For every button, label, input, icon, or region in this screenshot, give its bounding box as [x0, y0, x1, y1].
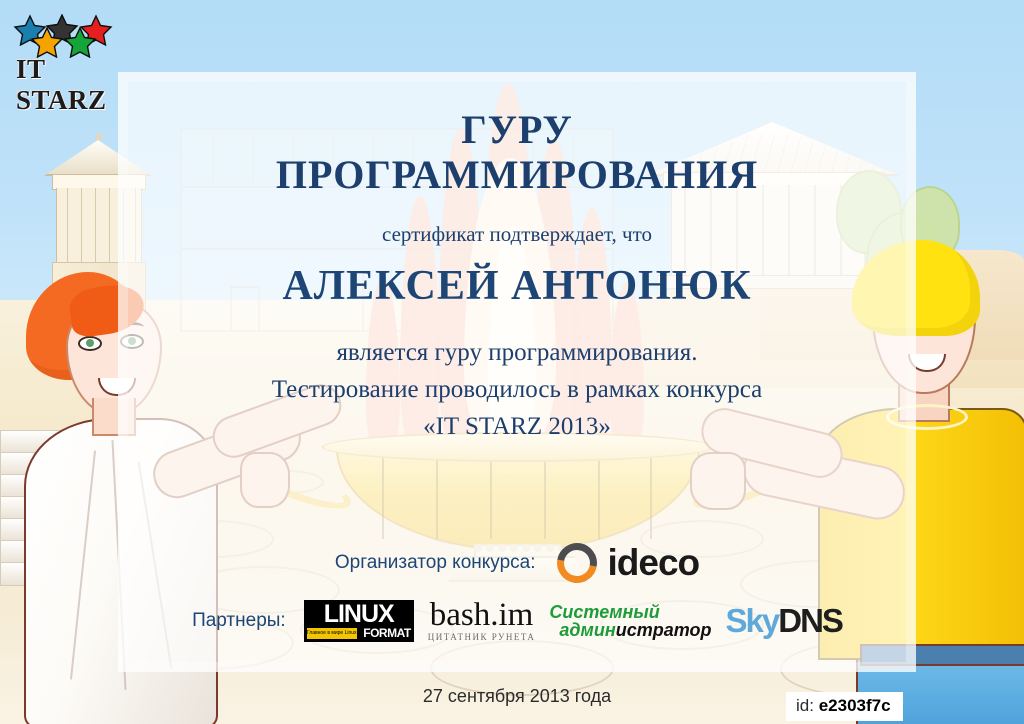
skydns-sky: Sky	[726, 602, 779, 639]
linux-format-word: LINUX	[308, 602, 410, 626]
certificate-content: ГУРУ ПРОГРАММИРОВАНИЯ сертификат подтвер…	[118, 72, 916, 672]
logo-stars	[12, 14, 120, 56]
skydns-dns: DNS	[778, 602, 842, 639]
logo-wordmark: IT STARZ	[16, 54, 120, 116]
title-line-1: ГУРУ	[118, 108, 916, 153]
it-starz-logo: IT STARZ	[12, 14, 120, 94]
certificate-title: ГУРУ ПРОГРАММИРОВАНИЯ	[118, 108, 916, 198]
partner-logo-bash-im: bash.im ЦИТАТНИК РУНЕТА	[428, 600, 536, 641]
certificate-id-badge: id: e2303f7c	[786, 692, 903, 721]
recipient-name: АЛЕКСЕЙ АНТОНЮК	[118, 262, 916, 310]
organizer-label: Организатор конкурса:	[335, 552, 536, 574]
partners-label: Партнеры:	[192, 610, 286, 632]
certificate-subtitle: сертификат подтверждает, что	[118, 222, 916, 247]
partner-logo-linux-format: LINUX Главное в мире Linux FORMAT	[304, 600, 414, 642]
certificate-canvas: IT STARZ ГУРУ ПРОГРАММИРОВАНИЯ сертифика…	[0, 0, 1024, 724]
sysadmin-line-2-green: админ	[559, 620, 615, 640]
body-line-2: Тестирование проводилось в рамках конкур…	[118, 371, 916, 408]
bash-im-word: bash.im	[430, 600, 534, 631]
certificate-body: является гуру программирования. Тестиров…	[118, 334, 916, 445]
partner-logo-sysadmin: Системный администратор	[549, 603, 711, 639]
bash-im-tagline: ЦИТАТНИК РУНЕТА	[428, 632, 536, 642]
partners-row: Партнеры: LINUX Главное в мире Linux FOR…	[118, 600, 916, 642]
id-value: e2303f7c	[819, 696, 891, 715]
title-line-2: ПРОГРАММИРОВАНИЯ	[118, 153, 916, 198]
sysadmin-line-2: администратор	[559, 621, 711, 639]
sysadmin-line-1: Системный	[549, 603, 659, 621]
body-line-1: является гуру программирования.	[118, 334, 916, 371]
linux-format-sub: FORMAT	[363, 626, 410, 640]
ideco-logo: ideco	[557, 542, 699, 584]
ideco-ring-icon	[557, 543, 597, 583]
stars-svg	[12, 14, 120, 58]
id-label: id:	[796, 696, 814, 715]
ideco-wordmark: ideco	[607, 542, 699, 584]
partner-logo-skydns: SkyDNS	[726, 602, 842, 640]
sysadmin-line-2-black: истратор	[616, 620, 712, 640]
body-line-3: «IT STARZ 2013»	[118, 408, 916, 445]
linux-format-tagline: Главное в мире Linux	[307, 628, 357, 639]
organizer-row: Организатор конкурса: ideco	[118, 542, 916, 584]
